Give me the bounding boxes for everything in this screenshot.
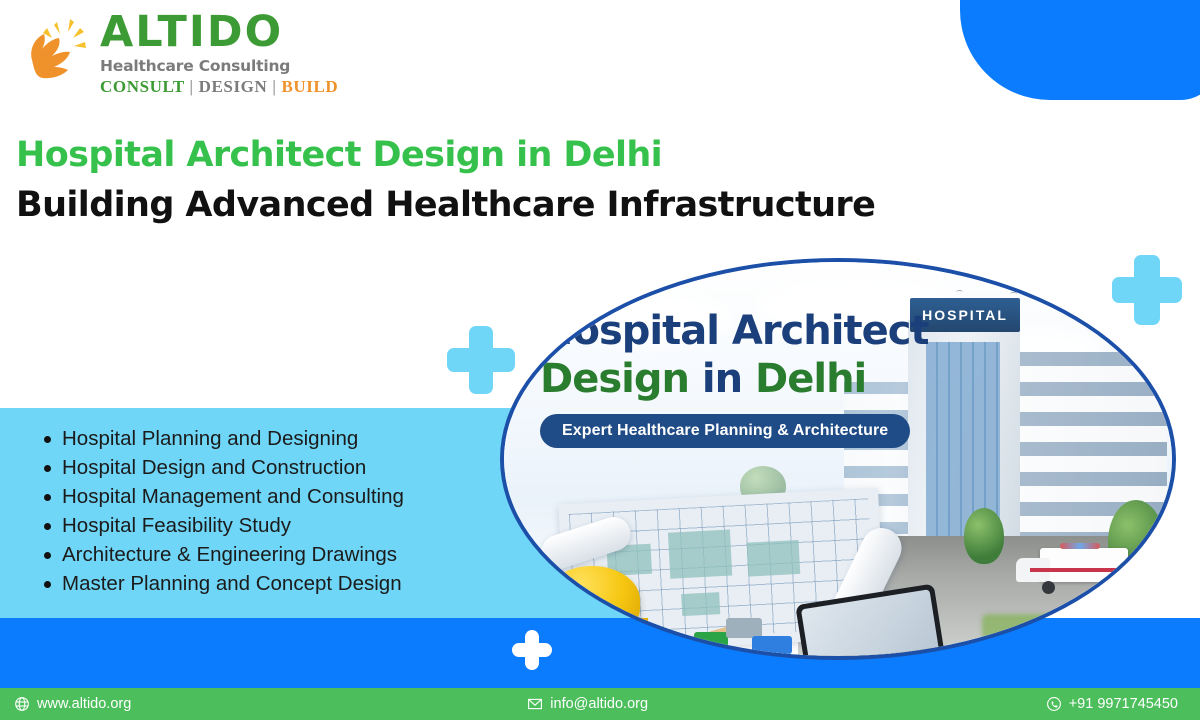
footer-phone[interactable]: +91 9971745450 — [1046, 696, 1178, 712]
list-item: Hospital Planning and Designing — [62, 424, 522, 453]
hero-subtitle-pill: Expert Healthcare Planning & Architectur… — [540, 414, 910, 448]
list-item: Architecture & Engineering Drawings — [62, 540, 522, 569]
footer-phone-label: +91 9971745450 — [1069, 696, 1178, 712]
hero-title-line2: Design in Delhi — [540, 354, 960, 404]
brand-tagline: Healthcare Consulting — [100, 56, 320, 76]
service-design: DESIGN — [199, 77, 268, 96]
blueprint-room — [747, 540, 801, 577]
ambulance-stripe — [1030, 568, 1126, 572]
headline-block: Hospital Architect Design in Delhi Build… — [16, 132, 1016, 232]
list-item: Hospital Management and Consulting — [62, 482, 522, 511]
brand-lockup: ALTIDO Healthcare Consulting CONSULT | D… — [100, 8, 320, 98]
blueprint-room — [681, 592, 720, 616]
grass-strip — [982, 614, 1132, 640]
service-consult: CONSULT — [100, 77, 185, 96]
list-item: Hospital Feasibility Study — [62, 511, 522, 540]
ambulance-wheel — [1042, 581, 1055, 594]
envelope-icon — [527, 696, 543, 712]
blueprint-desk — [504, 466, 934, 656]
ambulance-vehicle — [1016, 546, 1128, 590]
footer-website-label: www.altido.org — [37, 696, 131, 712]
hero-title-design: Design — [540, 356, 689, 402]
footer-email[interactable]: info@altido.org — [527, 696, 648, 712]
globe-icon — [14, 696, 30, 712]
hard-hat-icon — [544, 566, 640, 634]
service-build: BUILD — [281, 77, 338, 96]
whatsapp-icon — [1046, 696, 1062, 712]
ambulance-body — [1040, 548, 1128, 582]
brand-name: ALTIDO — [100, 8, 320, 56]
list-item: Master Planning and Concept Design — [62, 569, 522, 598]
hero-text-block: Hospital Architect Design in Delhi Exper… — [540, 308, 960, 448]
poster-canvas: ALTIDO Healthcare Consulting CONSULT | D… — [0, 0, 1200, 720]
headline-secondary: Building Advanced Healthcare Infrastruct… — [16, 178, 1016, 232]
model-block — [752, 636, 792, 654]
corner-shape — [960, 0, 1200, 100]
list-item: Hospital Design and Construction — [62, 453, 522, 482]
flame-hand-icon — [22, 16, 106, 90]
services-list: Hospital Planning and Designing Hospital… — [32, 424, 522, 598]
footer-website[interactable]: www.altido.org — [14, 696, 131, 712]
brand-logo[interactable]: ALTIDO Healthcare Consulting CONSULT | D… — [22, 8, 322, 104]
model-block — [694, 632, 728, 650]
service-sep-2: | — [272, 77, 276, 96]
tree-shape — [964, 508, 1004, 564]
ambulance-wheel — [1102, 581, 1115, 594]
ambulance-lightbar — [1060, 543, 1100, 549]
hero-title-in: in — [702, 356, 742, 402]
contact-footer: www.altido.org info@altido.org +91 99717… — [0, 688, 1200, 720]
brand-services: CONSULT | DESIGN | BUILD — [100, 76, 320, 98]
hero-title-line1: Hospital Architect — [540, 308, 960, 354]
footer-email-label: info@altido.org — [550, 696, 648, 712]
service-sep-1: | — [189, 77, 193, 96]
headline-primary: Hospital Architect Design in Delhi — [16, 132, 1016, 178]
hero-title-delhi: Delhi — [755, 356, 866, 402]
model-block — [726, 618, 762, 638]
hero-image: HOSPITAL — [500, 258, 1176, 660]
blueprint-room — [668, 530, 732, 579]
